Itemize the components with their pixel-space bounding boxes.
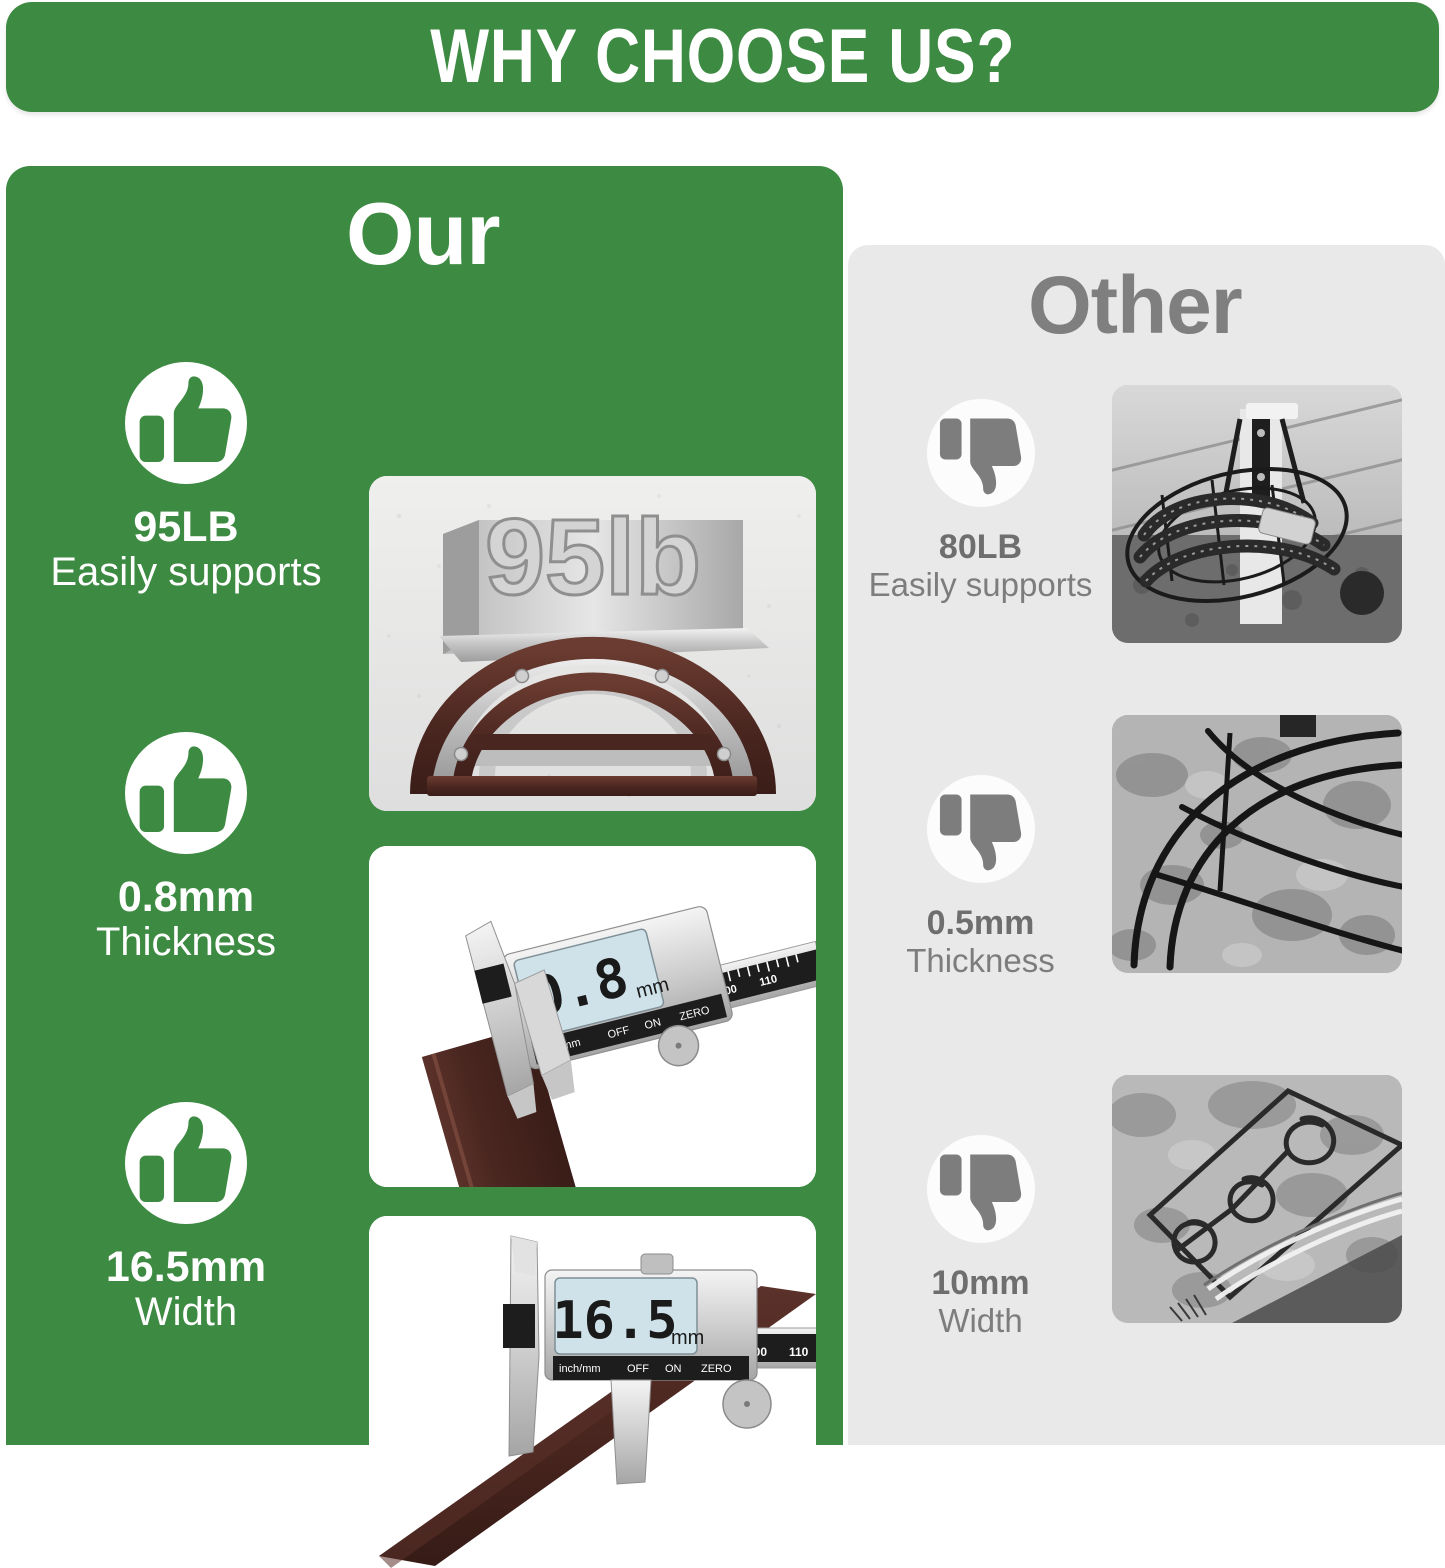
our-feature-value: 0.8mm: [118, 874, 254, 920]
our-panel: Our 95LB Easily supports: [6, 166, 843, 1445]
our-feature-sub: Easily supports: [50, 550, 321, 595]
caliper-button-off: OFF: [627, 1363, 649, 1375]
page-title: WHY CHOOSE US?: [430, 19, 1015, 95]
our-feature-label: 0.8mm Thickness: [16, 732, 356, 965]
our-feature-image-width: 100 110 16.5 mm inch/mm OFF ON ZERO: [369, 1216, 816, 1568]
thumbs-up-icon: [125, 732, 247, 854]
caliper-unit: mm: [671, 1327, 704, 1349]
other-feature-image-width: [1112, 1075, 1402, 1323]
our-feature-label: 95LB Easily supports: [16, 362, 356, 595]
our-feature-value: 95LB: [133, 504, 238, 550]
other-feature-sub: Width: [938, 1302, 1022, 1340]
other-feature-value: 80LB: [939, 529, 1022, 566]
our-feature-sub: Thickness: [96, 920, 276, 965]
other-feature-row: 0.5mm Thickness: [848, 715, 1445, 1005]
other-feature-value: 0.5mm: [927, 905, 1035, 942]
our-feature-sub: Width: [135, 1290, 237, 1335]
our-feature-label: 16.5mm Width: [16, 1102, 356, 1335]
thumbs-down-icon: [927, 1135, 1035, 1243]
thumbs-up-icon: [125, 1102, 247, 1224]
caliper-button-inchmm: inch/mm: [559, 1363, 601, 1375]
caliper-button-on: ON: [665, 1363, 682, 1375]
other-feature-value: 10mm: [931, 1265, 1029, 1302]
other-panel: Other 80LB Easily supports: [848, 245, 1445, 1445]
our-feature-value: 16.5mm: [106, 1244, 266, 1290]
other-feature-label: 10mm Width: [848, 1135, 1113, 1340]
other-feature-row: 10mm Width: [848, 1075, 1445, 1375]
other-feature-image-80lb: [1112, 385, 1402, 643]
our-feature-row: 16.5mm Width: [6, 1102, 843, 1452]
other-feature-label: 80LB Easily supports: [848, 399, 1113, 604]
other-feature-label: 0.5mm Thickness: [848, 775, 1113, 980]
other-feature-sub: Thickness: [906, 942, 1055, 980]
thumbs-up-icon: [125, 362, 247, 484]
our-feature-row: 0.8mm Thickness: [6, 732, 843, 1082]
header-banner: WHY CHOOSE US?: [6, 2, 1439, 112]
our-feature-row: 95LB Easily supports: [6, 362, 843, 712]
caliper-button-zero: ZERO: [701, 1363, 732, 1375]
weight-text-95lb: 95lb: [485, 496, 701, 617]
thumbs-down-icon: [927, 399, 1035, 507]
caliper-reading: 16.5: [552, 1291, 677, 1351]
other-feature-row: 80LB Easily supports: [848, 385, 1445, 675]
caliper-scale-mark: 110: [789, 1345, 809, 1359]
other-feature-image-thickness: [1112, 715, 1402, 973]
other-feature-sub: Easily supports: [869, 566, 1093, 604]
thumbs-down-icon: [927, 775, 1035, 883]
our-panel-heading: Our: [346, 190, 499, 278]
other-panel-heading: Other: [1028, 265, 1242, 347]
